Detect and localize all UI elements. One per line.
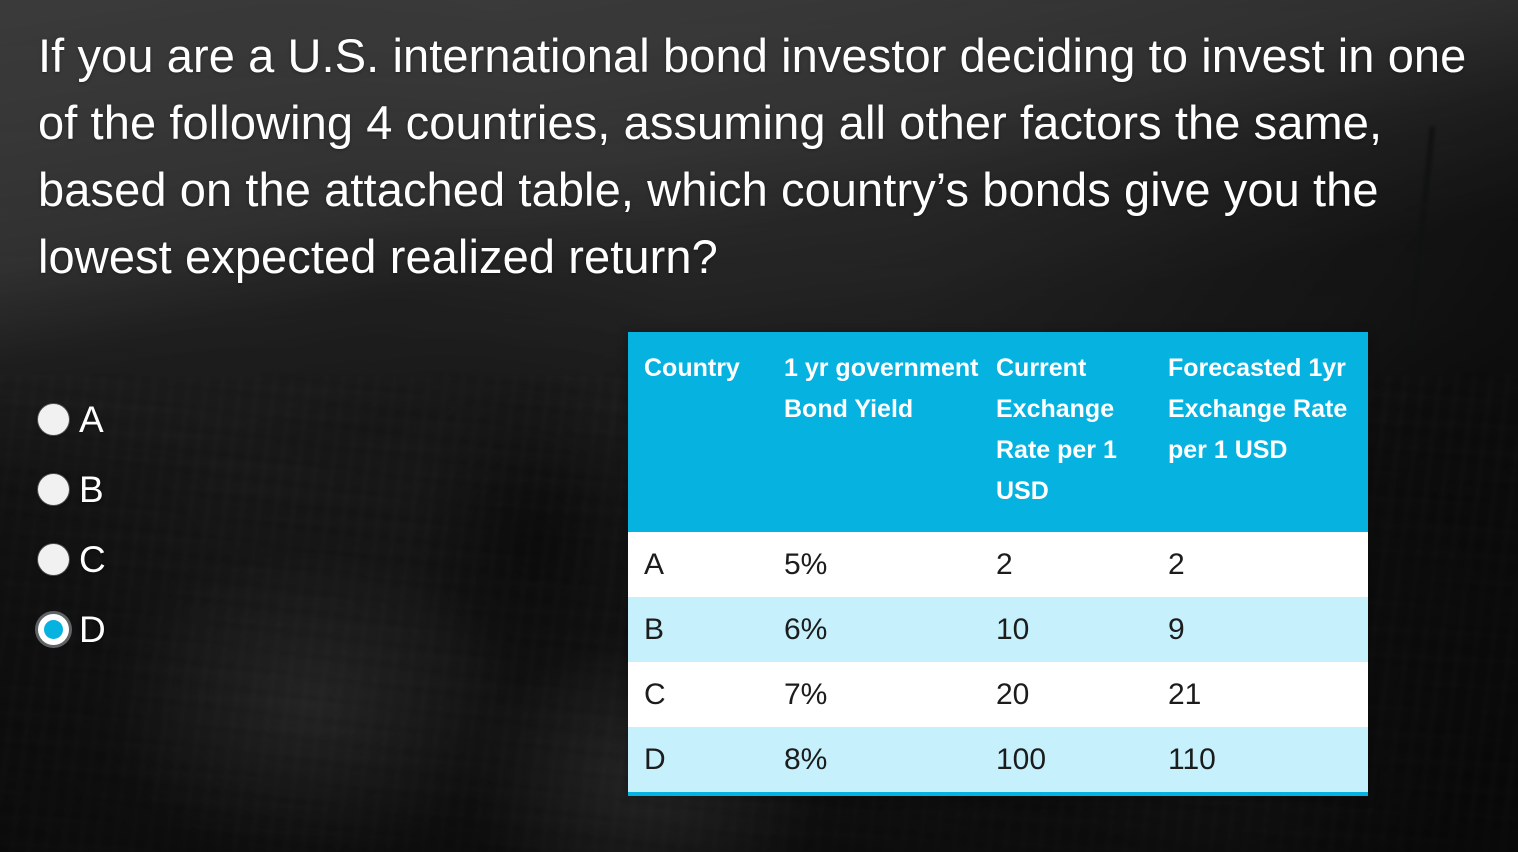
cell-country: A <box>628 532 784 597</box>
cell-forecast-rate: 110 <box>1168 727 1368 792</box>
radio-button-b-icon[interactable] <box>38 474 69 505</box>
answer-choice-d-label: D <box>79 611 106 648</box>
cell-country: B <box>628 597 784 662</box>
column-header-bond-yield: 1 yr government Bond Yield <box>784 332 996 532</box>
table-header-row: Country 1 yr government Bond Yield Curre… <box>628 332 1368 532</box>
table-row: B 6% 10 9 <box>628 597 1368 662</box>
table-header: Country 1 yr government Bond Yield Curre… <box>628 332 1368 532</box>
radio-button-c-icon[interactable] <box>38 544 69 575</box>
table-row: D 8% 100 110 <box>628 727 1368 792</box>
answer-choice-a-label: A <box>79 401 104 438</box>
column-header-country: Country <box>628 332 784 532</box>
answer-choice-list: A B C D <box>38 384 298 664</box>
cell-bond-yield: 7% <box>784 662 996 727</box>
question-text: If you are a U.S. international bond inv… <box>38 22 1498 290</box>
cell-bond-yield: 5% <box>784 532 996 597</box>
cell-forecast-rate: 9 <box>1168 597 1368 662</box>
radio-button-a-icon[interactable] <box>38 404 69 435</box>
table-row: A 5% 2 2 <box>628 532 1368 597</box>
answer-choice-b-label: B <box>79 471 104 508</box>
answer-choice-a[interactable]: A <box>38 384 298 454</box>
cell-bond-yield: 6% <box>784 597 996 662</box>
cell-current-rate: 20 <box>996 662 1168 727</box>
table-body: A 5% 2 2 B 6% 10 9 C 7% 20 21 <box>628 532 1368 792</box>
cell-current-rate: 10 <box>996 597 1168 662</box>
column-header-current-rate: Current Exchange Rate per 1 USD <box>996 332 1168 532</box>
cell-bond-yield: 8% <box>784 727 996 792</box>
cell-forecast-rate: 2 <box>1168 532 1368 597</box>
answer-choice-c-label: C <box>79 541 106 578</box>
answer-choice-d[interactable]: D <box>38 594 298 664</box>
column-header-forecast-rate: Forecasted 1yr Exchange Rate per 1 USD <box>1168 332 1368 532</box>
cell-current-rate: 100 <box>996 727 1168 792</box>
slide-canvas: If you are a U.S. international bond inv… <box>0 0 1518 852</box>
answer-choice-c[interactable]: C <box>38 524 298 594</box>
cell-forecast-rate: 21 <box>1168 662 1368 727</box>
cell-country: C <box>628 662 784 727</box>
table-row: C 7% 20 21 <box>628 662 1368 727</box>
bond-data-table: Country 1 yr government Bond Yield Curre… <box>628 332 1368 796</box>
table: Country 1 yr government Bond Yield Curre… <box>628 332 1368 792</box>
cell-current-rate: 2 <box>996 532 1168 597</box>
radio-button-d-icon[interactable] <box>38 614 69 645</box>
answer-choice-b[interactable]: B <box>38 454 298 524</box>
cell-country: D <box>628 727 784 792</box>
